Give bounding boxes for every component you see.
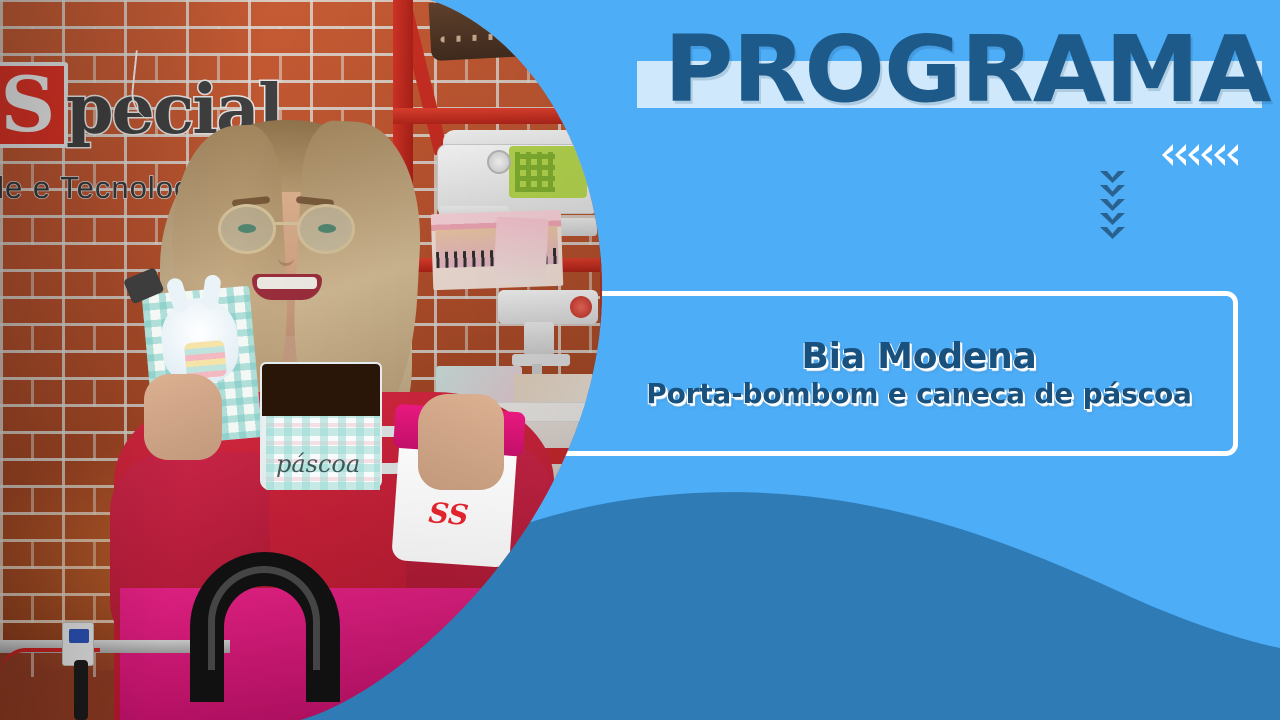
chevron-left-icon <box>1227 144 1238 166</box>
studio-scene: a S pecial ualidade e Tecnologia <box>0 0 660 720</box>
chevron-left-icon-group <box>1162 144 1238 166</box>
chevron-down-icon <box>1100 171 1125 183</box>
mug-chocolate-drip <box>262 364 380 416</box>
chevron-down-icon <box>1100 185 1125 197</box>
hand-left <box>144 374 222 460</box>
red-cabinet <box>600 250 660 580</box>
chevron-down-icon <box>1100 227 1125 239</box>
segment-subtitle: Porta-bombom e caneca de páscoa <box>646 379 1191 410</box>
chevron-left-icon <box>1188 144 1199 166</box>
photo-mask: a S pecial ualidade e Tecnologia <box>0 0 660 720</box>
chevron-down-icon <box>1100 199 1125 211</box>
easter-mug: páscoa <box>260 362 382 490</box>
chevron-left-icon <box>1162 144 1173 166</box>
chevron-left-icon <box>1214 144 1225 166</box>
handle-highlight <box>208 566 320 670</box>
equipment-handle <box>190 552 340 720</box>
tumbler-logo: SS <box>424 496 477 532</box>
chevron-left-icon <box>1201 144 1212 166</box>
hand-right <box>418 394 504 490</box>
page-title: PROGRAMA <box>648 17 1280 122</box>
chevron-left-icon <box>1175 144 1186 166</box>
chevron-down-icon <box>1100 213 1125 225</box>
slide-stage: PROGRAMA Bia Modena Porta-bombom e canec… <box>0 0 1280 720</box>
mug-script-text: páscoa <box>276 450 360 478</box>
chevron-down-icon-group <box>1100 171 1125 239</box>
presenter-name: Bia Modena <box>801 338 1036 376</box>
presenter-photo: a S pecial ualidade e Tecnologia <box>0 0 660 720</box>
